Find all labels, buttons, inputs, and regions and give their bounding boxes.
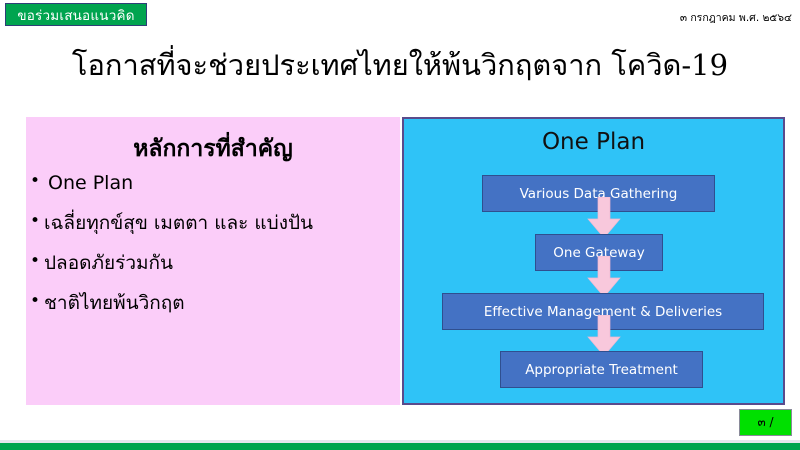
ribbon-label: ขอร่วมเสนอแนวคิด xyxy=(17,4,134,26)
down-arrow-icon xyxy=(587,197,621,239)
page-number-label: ๓ / xyxy=(757,413,773,432)
list-item: • One Plan xyxy=(30,173,400,195)
principles-list: • One Plan • เฉลี่ยทุกข์สุข เมตตา และ แบ… xyxy=(30,173,400,332)
one-plan-panel: One Plan Various Data Gathering One Gate… xyxy=(402,117,785,405)
principles-heading: หลักการที่สำคัญ xyxy=(26,131,400,167)
list-item: • ชาติไทยพ้นวิกฤต xyxy=(30,293,400,315)
bottom-accent-bar xyxy=(0,443,800,450)
page-title: โอกาสที่จะช่วยประเทศไทยให้พ้นวิกฤตจาก โค… xyxy=(0,42,800,88)
list-item: • เฉลี่ยทุกข์สุข เมตตา และ แบ่งปัน xyxy=(30,213,400,235)
bullet-icon: • xyxy=(30,213,44,231)
principles-panel: หลักการที่สำคัญ • One Plan • เฉลี่ยทุกข์… xyxy=(26,117,400,405)
page-number-badge: ๓ / xyxy=(739,409,792,436)
list-item-label: ปลอดภัยร่วมกัน xyxy=(44,253,400,275)
flow-step-box: Appropriate Treatment xyxy=(500,351,703,388)
bullet-icon: • xyxy=(30,173,44,191)
list-item: • ปลอดภัยร่วมกัน xyxy=(30,253,400,275)
bullet-icon: • xyxy=(30,253,44,271)
bullet-icon: • xyxy=(30,293,44,311)
list-item-label: ชาติไทยพ้นวิกฤต xyxy=(44,293,400,315)
flow-step-label: Appropriate Treatment xyxy=(525,362,678,378)
down-arrow-icon xyxy=(587,256,621,298)
slide-date: ๓ กรกฎาคม พ.ศ. ๒๕๖๔ xyxy=(680,9,792,26)
list-item-label: One Plan xyxy=(44,173,400,195)
list-item-label: เฉลี่ยทุกข์สุข เมตตา และ แบ่งปัน xyxy=(44,213,400,235)
one-plan-heading: One Plan xyxy=(404,129,783,155)
proposal-ribbon-tag: ขอร่วมเสนอแนวคิด xyxy=(5,3,147,26)
